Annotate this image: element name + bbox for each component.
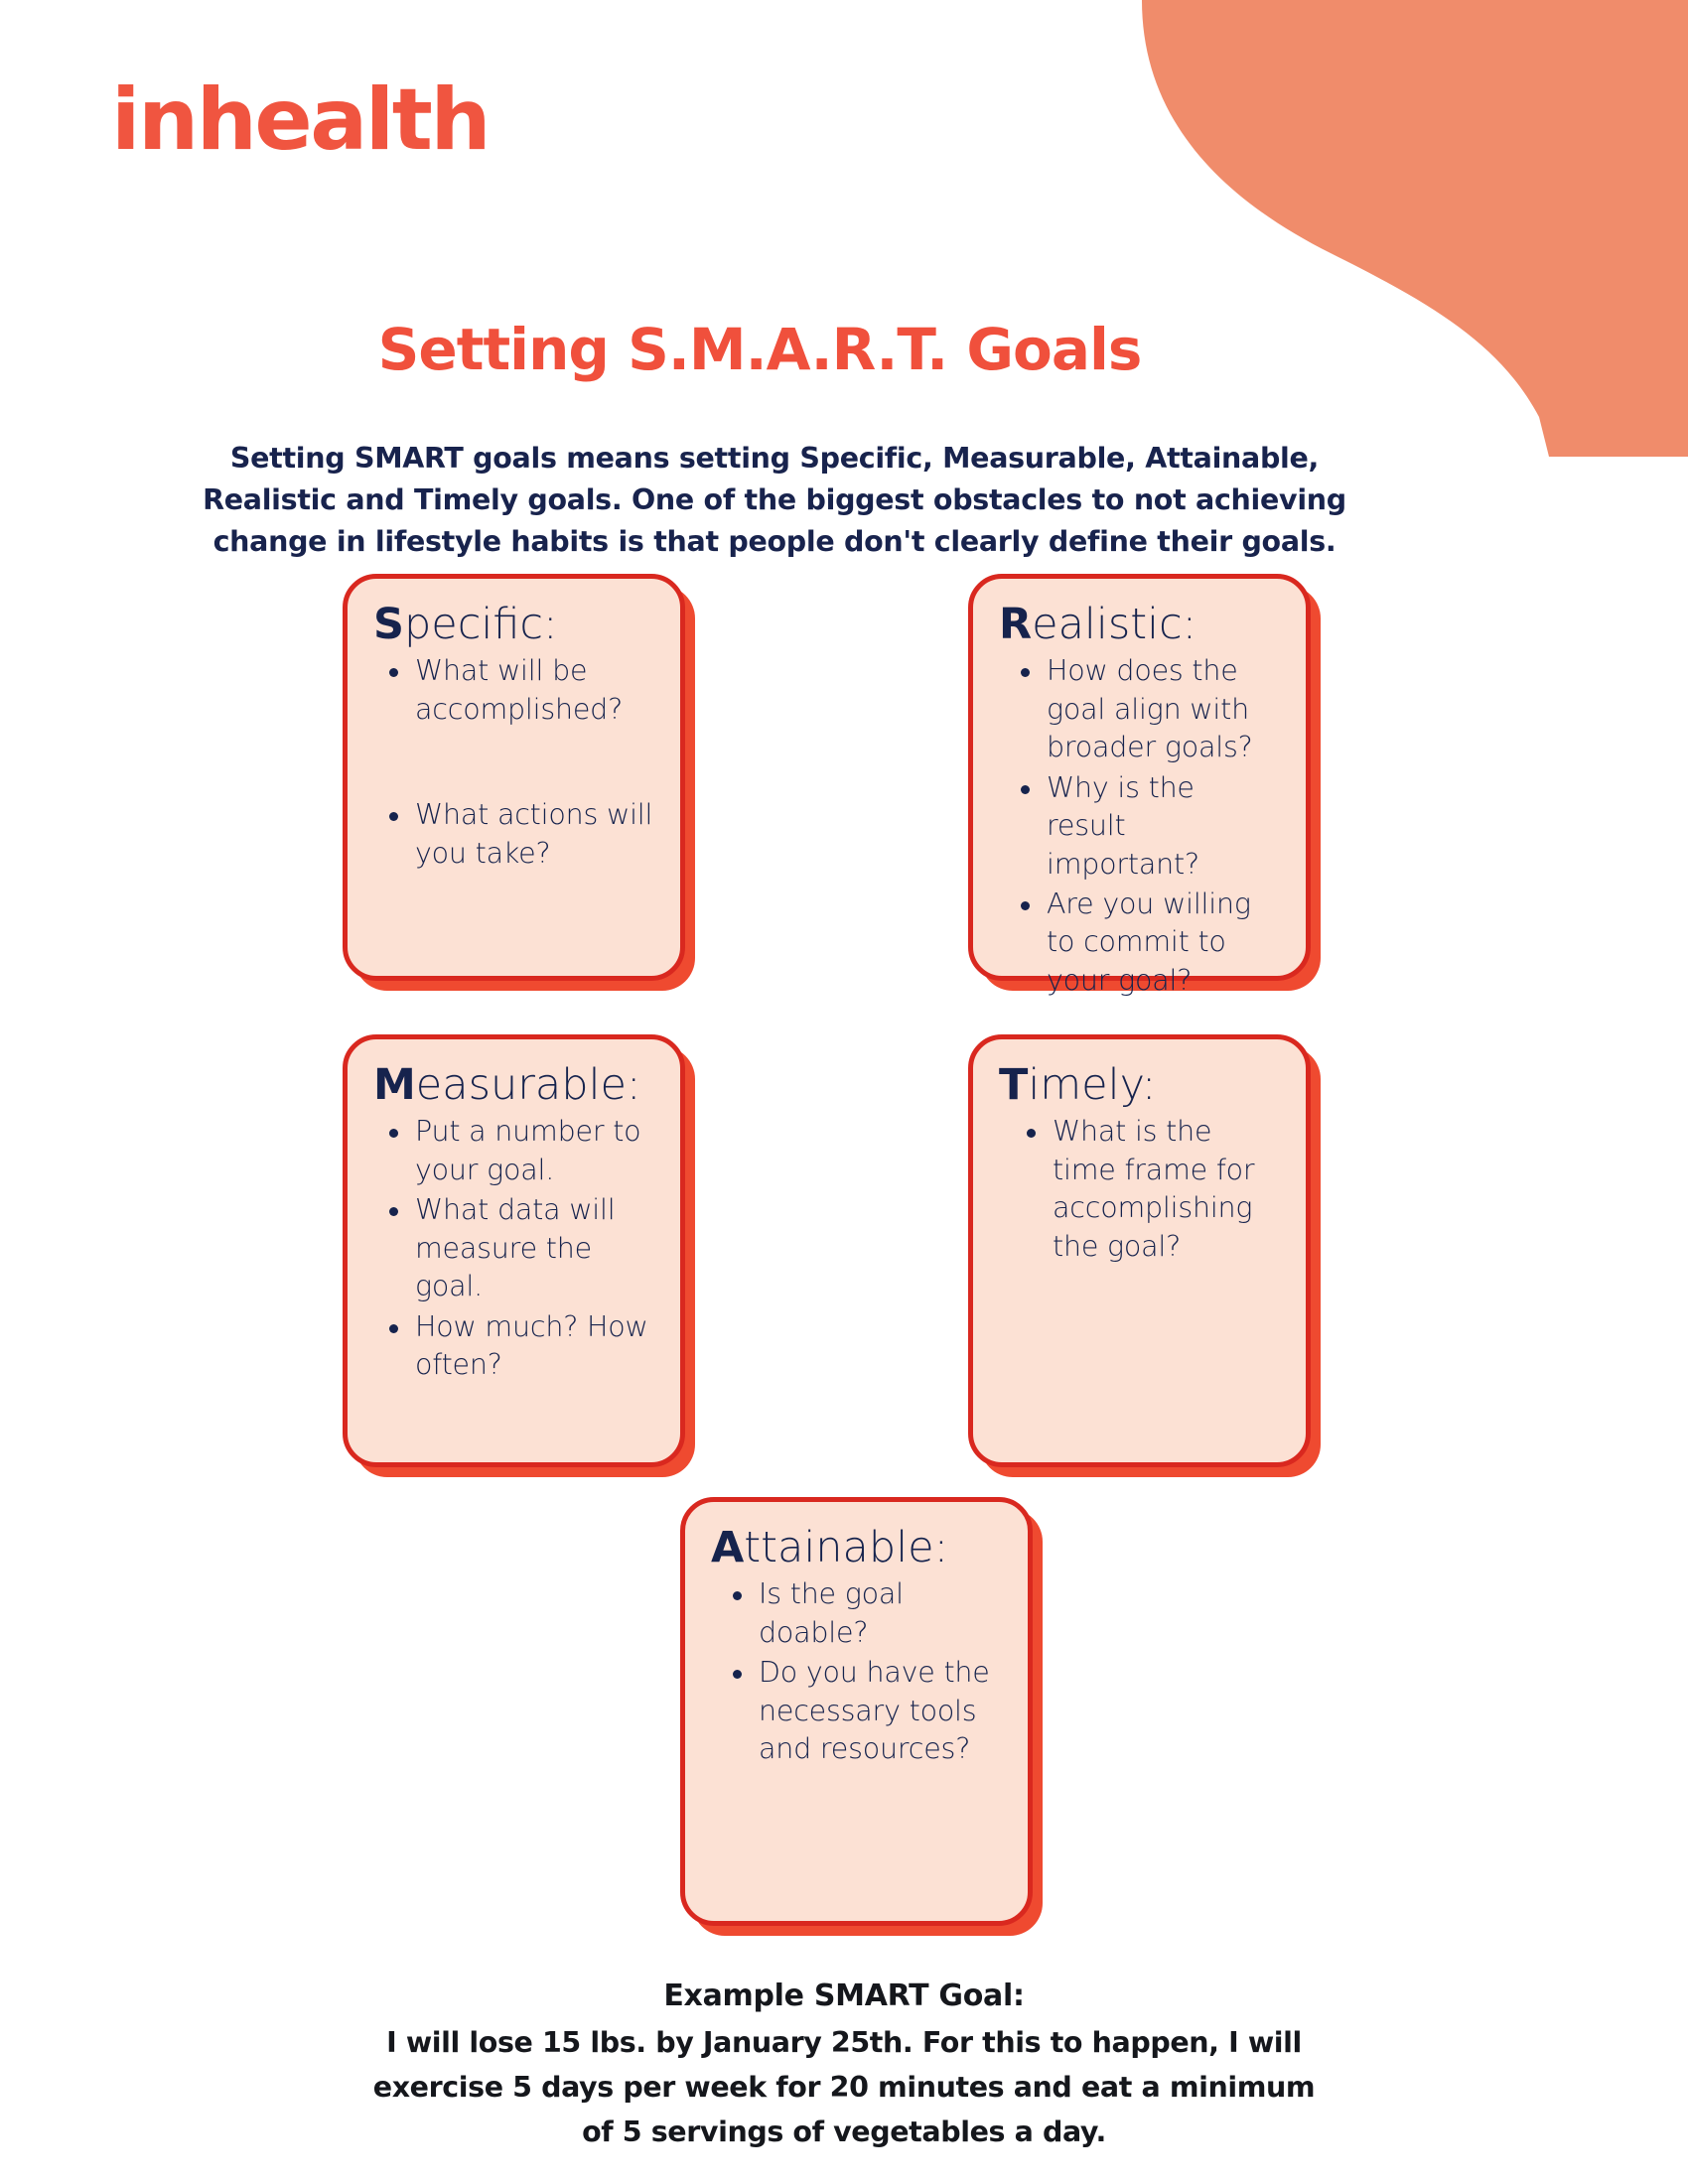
card-initial-attainable: A	[711, 1523, 744, 1572]
card-list-attainable: Is the goal doable? Do you have the nece…	[711, 1575, 1002, 1768]
example-smart-goal: Example SMART Goal: I will lose 15 lbs. …	[0, 1974, 1688, 2154]
card-word-measurable: easurable:	[416, 1060, 641, 1110]
list-item: Is the goal doable?	[759, 1575, 1002, 1652]
example-line-2: exercise 5 days per week for 20 minutes …	[0, 2065, 1688, 2110]
decorative-blob	[1072, 0, 1688, 457]
list-item: Why is the result important?	[1047, 769, 1280, 884]
list-item: Are you willing to commit to your goal?	[1047, 886, 1280, 1000]
card-list-measurable: Put a number to your goal. What data wil…	[373, 1113, 654, 1384]
card-word-attainable: ttainable:	[744, 1523, 948, 1572]
card-list-timely: What is the time frame for accomplishing…	[999, 1113, 1280, 1266]
list-item: What is the time frame for accomplishing…	[1053, 1113, 1280, 1266]
card-title-timely: Timely:	[999, 1061, 1280, 1109]
page-title: Setting S.M.A.R.T. Goals	[0, 320, 1688, 380]
list-item: What will be accomplished?	[415, 652, 654, 729]
card-list-specific: What will be accomplished? What actions …	[373, 652, 654, 873]
card-initial-realistic: R	[999, 600, 1032, 649]
card-initial-measurable: M	[373, 1060, 416, 1110]
card-title-measurable: Measurable:	[373, 1061, 654, 1109]
list-item: What actions will you take?	[415, 796, 654, 873]
example-line-1: I will lose 15 lbs. by January 25th. For…	[0, 2020, 1688, 2065]
card-initial-timely: T	[999, 1060, 1028, 1110]
card-title-specific: Specific:	[373, 601, 654, 648]
card-word-realistic: ealistic:	[1032, 600, 1196, 649]
card-word-specific: pecific:	[404, 600, 558, 649]
list-item: What data will measure the goal.	[415, 1191, 654, 1305]
example-heading: Example SMART Goal:	[0, 1974, 1688, 2018]
card-title-attainable: Attainable:	[711, 1524, 1002, 1571]
card-realistic: Realistic: How does the goal align with …	[968, 574, 1311, 981]
list-item: Do you have the necessary tools and reso…	[759, 1654, 1002, 1768]
card-measurable: Measurable: Put a number to your goal. W…	[343, 1034, 685, 1467]
example-body: I will lose 15 lbs. by January 25th. For…	[0, 2020, 1688, 2154]
card-specific: Specific: What will be accomplished? Wha…	[343, 574, 685, 981]
card-attainable: Attainable: Is the goal doable? Do you h…	[680, 1497, 1033, 1926]
card-title-realistic: Realistic:	[999, 601, 1280, 648]
list-item: Put a number to your goal.	[415, 1113, 654, 1189]
list-item: How much? How often?	[415, 1308, 654, 1385]
list-item: How does the goal align with broader goa…	[1047, 652, 1280, 766]
card-word-timely: imely:	[1028, 1060, 1156, 1110]
example-line-3: of 5 servings of vegetables a day.	[0, 2110, 1688, 2154]
brand-logo: inhealth	[111, 77, 489, 163]
card-list-realistic: How does the goal align with broader goa…	[999, 652, 1280, 1000]
card-initial-specific: S	[373, 600, 404, 649]
intro-paragraph: Setting SMART goals means setting Specif…	[189, 438, 1360, 564]
card-timely: Timely: What is the time frame for accom…	[968, 1034, 1311, 1467]
